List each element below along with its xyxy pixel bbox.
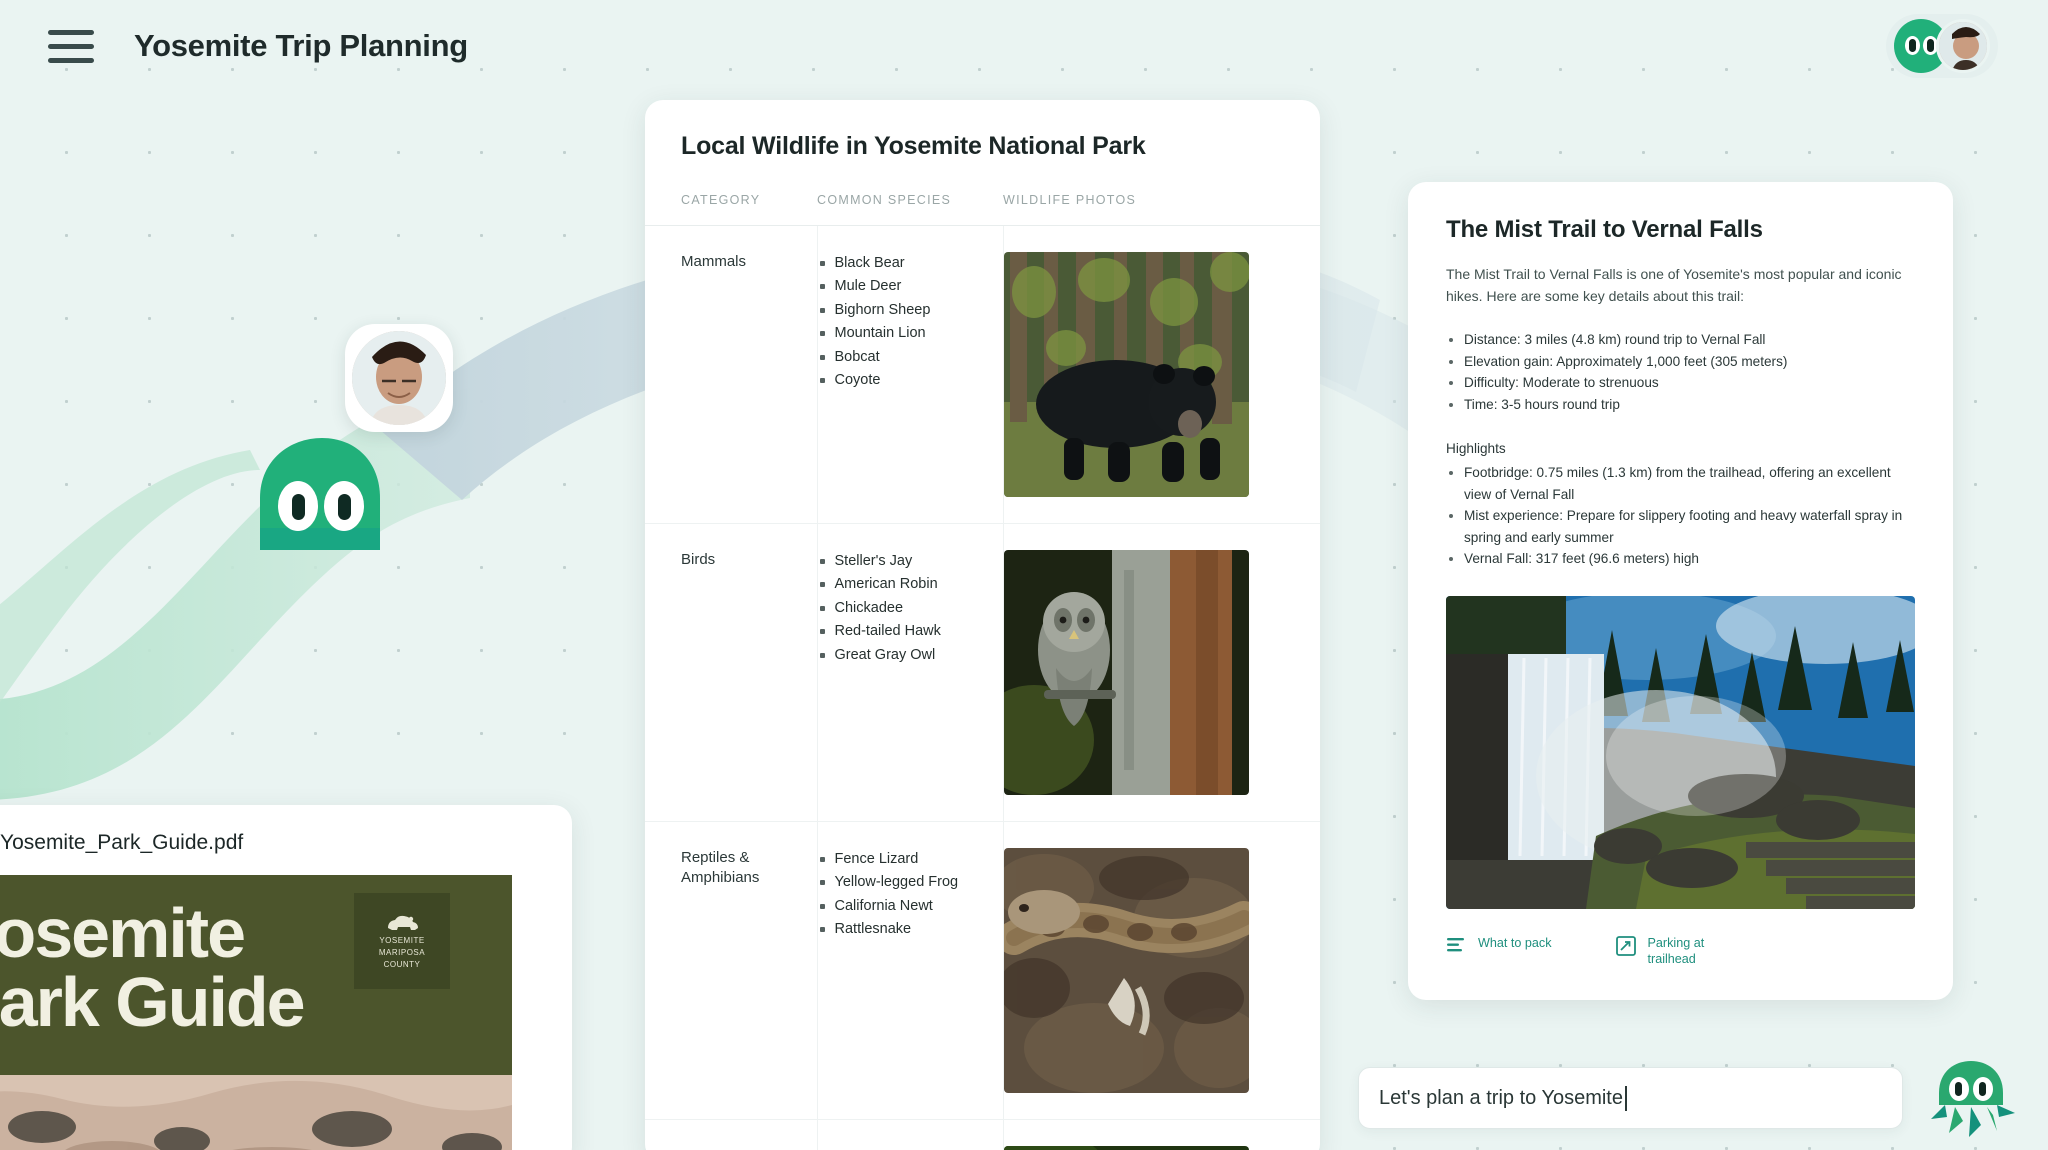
table-row: Insects Sister Butterfly Sierra Dragonfl… (645, 1120, 1320, 1150)
yosemite-mariposa-badge: YOSEMITE MARIPOSA COUNTY (354, 893, 450, 989)
list-item: Mist experience: Prepare for slippery fo… (1446, 505, 1915, 548)
list-item: Sister Butterfly (818, 1146, 989, 1150)
list-item: Footbridge: 0.75 miles (1.3 km) from the… (1446, 462, 1915, 505)
list-item: Rattlesnake (818, 918, 989, 941)
list-item: California Newt (818, 895, 989, 918)
pdf-cover-title: Yosemite Park Guide (0, 899, 304, 1036)
bear-logo-icon (383, 912, 421, 934)
wildlife-card-title: Local Wildlife in Yosemite National Park (645, 100, 1320, 185)
list-item: Difficulty: Moderate to strenuous (1446, 372, 1915, 393)
list-item: Chickadee (818, 597, 989, 620)
trail-highlights-list: Footbridge: 0.75 miles (1.3 km) from the… (1446, 462, 1915, 569)
message-input[interactable]: Let's plan a trip to Yosemite (1358, 1067, 1903, 1129)
black-bear-in-forest-photo (1004, 252, 1249, 497)
pdf-attachment-card[interactable]: Yosemite_Park_Guide.pdf Yosemite Park Gu… (0, 805, 572, 1150)
table-header-row: CATEGORY COMMON SPECIES WILDLIFE PHOTOS (645, 185, 1320, 226)
wildlife-table-card: Local Wildlife in Yosemite National Park… (645, 100, 1320, 1150)
parking-at-trailhead-label: Parking at trailhead (1648, 935, 1740, 968)
rattlesnake-on-ground-photo (1004, 848, 1249, 1093)
list-item: Distance: 3 miles (4.8 km) round trip to… (1446, 329, 1915, 350)
green-blob-mascot (252, 432, 384, 552)
list-lines-icon (1446, 936, 1466, 959)
pdf-cover-title-line2: Park Guide (0, 968, 304, 1037)
list-item: Black Bear (818, 252, 989, 275)
species-list: Black Bear Mule Deer Bighorn Sheep Mount… (818, 252, 989, 393)
great-gray-owl-on-tree-photo (1004, 550, 1249, 795)
list-item: Red-tailed Hawk (818, 620, 989, 643)
list-item: Bobcat (818, 346, 989, 369)
list-item: Fence Lizard (818, 848, 989, 871)
list-item: Yellow-legged Frog (818, 871, 989, 894)
list-item: Mule Deer (818, 275, 989, 298)
text-caret (1625, 1086, 1627, 1111)
list-item: Coyote (818, 369, 989, 392)
category-label: Reptiles & Amphibians (681, 848, 803, 889)
bumblebee-on-yellow-flower-photo (1004, 1146, 1249, 1150)
table-row: Birds Steller's Jay American Robin Chick… (645, 524, 1320, 822)
top-bar: Yosemite Trip Planning (0, 0, 2048, 92)
badge-line1: YOSEMITE (379, 936, 424, 946)
pdf-cover-preview: Yosemite Park Guide YOSEMITE MARIPOSA CO… (0, 875, 512, 1150)
composer-area: Let's plan a trip to Yosemite (1358, 1055, 2017, 1141)
list-item: Bighorn Sheep (818, 299, 989, 322)
list-item: Vernal Fall: 317 feet (96.6 meters) high (1446, 548, 1915, 569)
column-header-photos: WILDLIFE PHOTOS (1003, 185, 1320, 226)
pdf-filename: Yosemite_Park_Guide.pdf (0, 827, 572, 875)
species-list: Sister Butterfly Sierra Dragonfly Yellow… (818, 1146, 989, 1150)
trail-intro-text: The Mist Trail to Vernal Falls is one of… (1446, 264, 1915, 307)
trail-detail-card: The Mist Trail to Vernal Falls The Mist … (1408, 182, 1953, 1000)
category-label: Insects (681, 1146, 803, 1150)
badge-line2: MARIPOSA (379, 948, 425, 958)
floating-user-avatar (345, 324, 453, 432)
hamburger-menu-icon[interactable] (48, 23, 102, 69)
page-title: Yosemite Trip Planning (134, 28, 468, 64)
badge-line3: COUNTY (384, 960, 421, 970)
wildlife-table: CATEGORY COMMON SPECIES WILDLIFE PHOTOS … (645, 185, 1320, 1150)
trail-action-links: What to pack Parking at trailhead (1446, 935, 1915, 968)
table-row: Reptiles & Amphibians Fence Lizard Yello… (645, 822, 1320, 1120)
list-item: Time: 3-5 hours round trip (1446, 394, 1915, 415)
what-to-pack-label: What to pack (1478, 935, 1552, 951)
highlights-label: Highlights (1446, 441, 1915, 456)
pdf-cover-rock-photo (0, 1075, 512, 1150)
what-to-pack-action[interactable]: What to pack (1446, 935, 1552, 959)
octopus-mascot-icon (1925, 1055, 2017, 1141)
species-list: Fence Lizard Yellow-legged Frog Californ… (818, 848, 989, 942)
species-list: Steller's Jay American Robin Chickadee R… (818, 550, 989, 667)
avatar-group[interactable] (1886, 14, 1998, 78)
column-header-species: COMMON SPECIES (817, 185, 1003, 226)
map-pin-square-icon (1616, 936, 1636, 961)
trail-details-list: Distance: 3 miles (4.8 km) round trip to… (1446, 329, 1915, 415)
pdf-cover-title-line1: Yosemite (0, 899, 304, 968)
list-item: American Robin (818, 573, 989, 596)
list-item: Mountain Lion (818, 322, 989, 345)
user-photo-avatar[interactable] (1936, 19, 1990, 73)
list-item: Elevation gain: Approximately 1,000 feet… (1446, 351, 1915, 372)
list-item: Steller's Jay (818, 550, 989, 573)
column-header-category: CATEGORY (645, 185, 817, 226)
category-label: Birds (681, 550, 803, 570)
category-label: Mammals (681, 252, 803, 272)
list-item: Great Gray Owl (818, 644, 989, 667)
table-row: Mammals Black Bear Mule Deer Bighorn She… (645, 226, 1320, 524)
composer-text-value[interactable]: Let's plan a trip to Yosemite (1379, 1087, 1623, 1110)
vernal-falls-waterfall-photo (1446, 596, 1915, 909)
parking-at-trailhead-action[interactable]: Parking at trailhead (1616, 935, 1740, 968)
trail-title: The Mist Trail to Vernal Falls (1446, 216, 1915, 244)
